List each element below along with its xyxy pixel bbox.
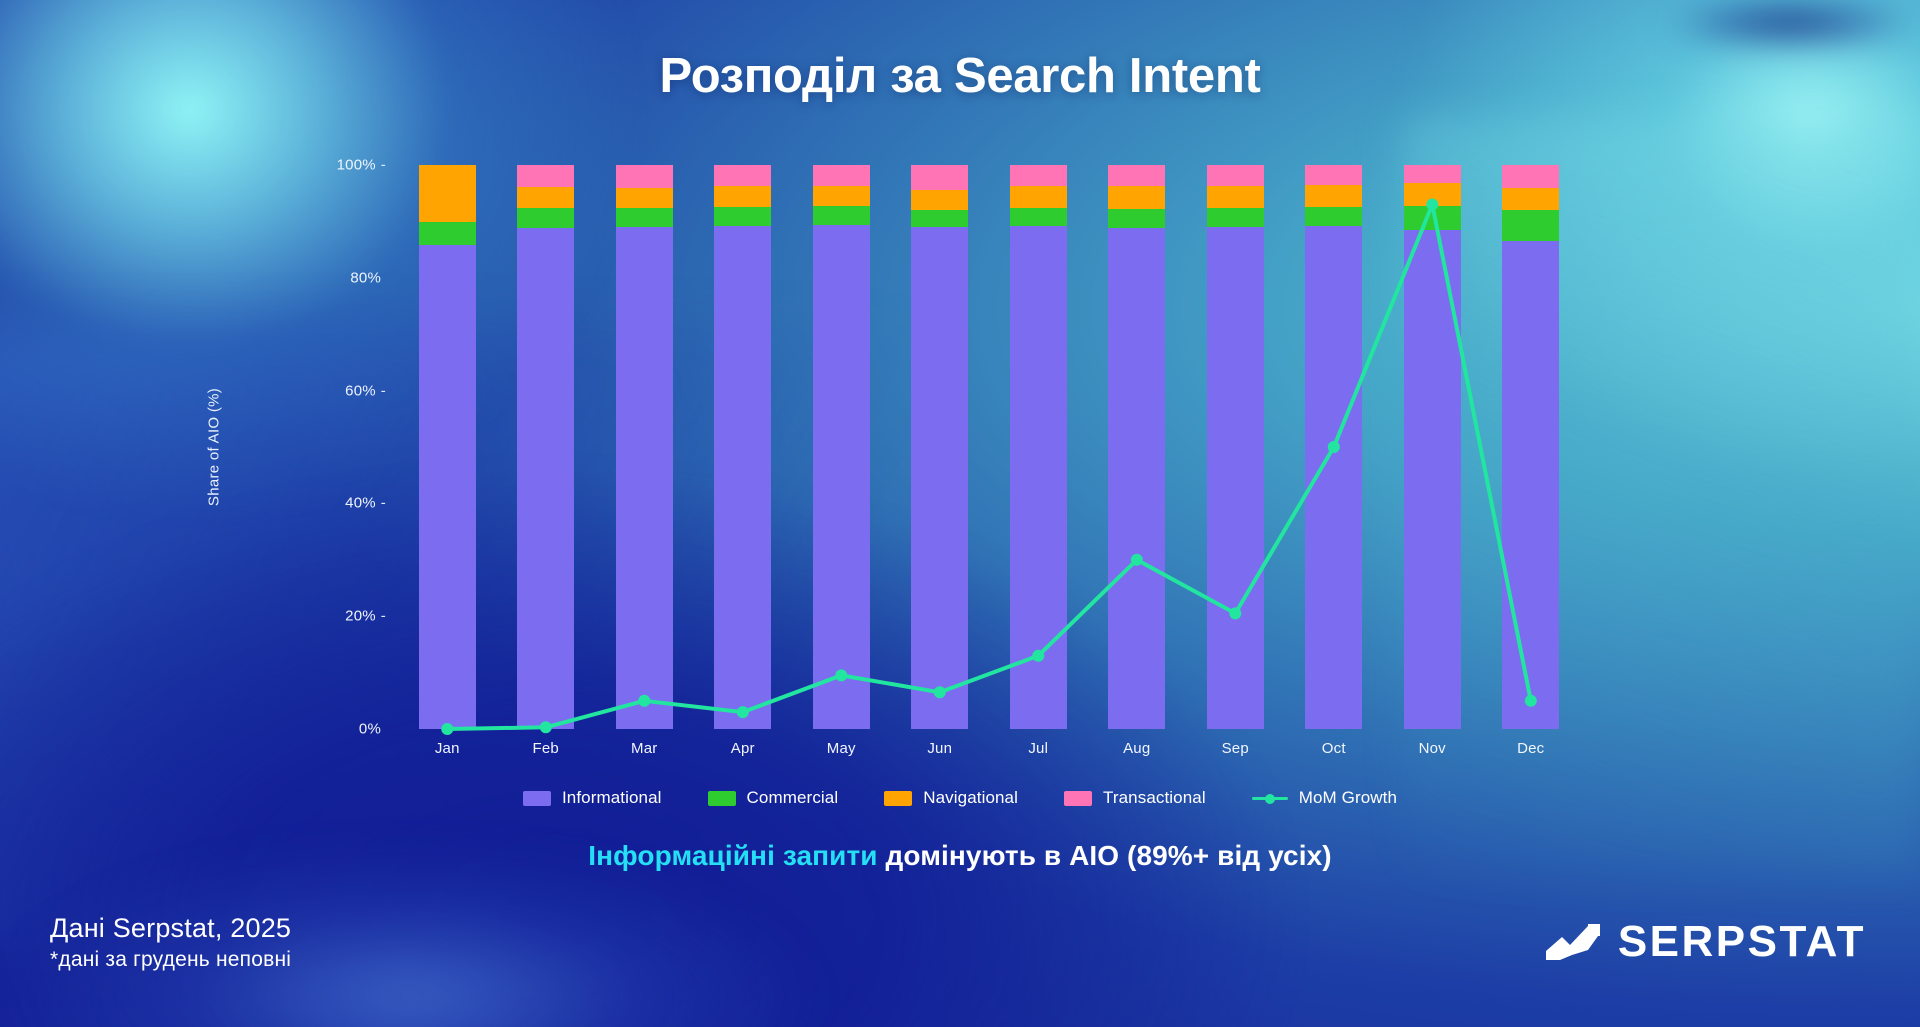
y-axis-tick: 40%- xyxy=(345,495,386,512)
legend-line-swatch xyxy=(1252,791,1288,806)
x-axis-tick: Nov xyxy=(1383,740,1482,757)
x-axis-tick: Aug xyxy=(1088,740,1187,757)
mom-growth-point[interactable] xyxy=(1328,441,1340,453)
y-axis-tick: 100%- xyxy=(337,157,386,174)
legend-label: MoM Growth xyxy=(1299,788,1397,808)
mom-growth-point[interactable] xyxy=(1525,695,1537,707)
y-axis-tick: 60%- xyxy=(345,382,386,399)
x-axis-tick: Oct xyxy=(1285,740,1384,757)
y-axis-label: Share of AIO (%) xyxy=(206,388,223,506)
caption-highlight: Інформаційні запити xyxy=(588,840,877,871)
footer-source: Дані Serpstat, 2025 *дані за грудень неп… xyxy=(50,913,291,973)
caption-rest: домінують в AIO (89%+ від усіх) xyxy=(878,840,1332,871)
legend-item[interactable]: Commercial xyxy=(708,788,839,808)
chart-legend: InformationalCommercialNavigationalTrans… xyxy=(0,788,1920,808)
y-axis-tick: 80% xyxy=(350,269,386,286)
legend-color-swatch xyxy=(1064,791,1092,806)
legend-color-swatch xyxy=(884,791,912,806)
legend-label: Navigational xyxy=(923,788,1018,808)
y-axis-tick: 0% xyxy=(359,721,386,738)
x-axis-tick: Feb xyxy=(497,740,596,757)
x-axis-tick: Mar xyxy=(595,740,694,757)
mom-growth-polyline xyxy=(447,205,1531,730)
chart-caption: Інформаційні запити домінують в AIO (89%… xyxy=(0,840,1920,872)
mom-growth-point[interactable] xyxy=(1229,607,1241,619)
serpstat-mark-icon xyxy=(1542,920,1604,964)
mom-growth-point[interactable] xyxy=(1131,554,1143,566)
legend-label: Informational xyxy=(562,788,662,808)
legend-color-swatch xyxy=(523,791,551,806)
y-axis-ticks: 100%-80%60%-40%-20%-0% xyxy=(286,165,386,729)
x-axis-tick: Apr xyxy=(694,740,793,757)
footer-source-line1: Дані Serpstat, 2025 xyxy=(50,913,291,945)
legend-label: Commercial xyxy=(747,788,839,808)
legend-item[interactable]: Navigational xyxy=(884,788,1018,808)
mom-growth-line-series xyxy=(398,165,1580,729)
x-axis-tick: Sep xyxy=(1186,740,1285,757)
x-axis-tick: May xyxy=(792,740,891,757)
x-axis-tick: Jul xyxy=(989,740,1088,757)
mom-growth-point[interactable] xyxy=(934,686,946,698)
x-axis-tick: Jun xyxy=(891,740,990,757)
legend-color-swatch xyxy=(708,791,736,806)
chart-title: Розподіл за Search Intent xyxy=(0,48,1920,104)
serpstat-wordmark: SERPSTAT xyxy=(1618,917,1866,967)
y-axis-tick: 20%- xyxy=(345,608,386,625)
x-axis-tick: Dec xyxy=(1482,740,1581,757)
mom-growth-point[interactable] xyxy=(1426,199,1438,211)
legend-label: Transactional xyxy=(1103,788,1206,808)
legend-item[interactable]: MoM Growth xyxy=(1252,788,1397,808)
serpstat-logo: SERPSTAT xyxy=(1542,917,1866,967)
mom-growth-point[interactable] xyxy=(638,695,650,707)
mom-growth-point[interactable] xyxy=(737,706,749,718)
mom-growth-point[interactable] xyxy=(441,723,453,735)
footer-source-line2: *дані за грудень неповні xyxy=(50,947,291,973)
legend-item[interactable]: Transactional xyxy=(1064,788,1206,808)
x-axis-tick: Jan xyxy=(398,740,497,757)
mom-growth-point[interactable] xyxy=(835,669,847,681)
legend-item[interactable]: Informational xyxy=(523,788,662,808)
mom-growth-point[interactable] xyxy=(540,721,552,733)
plot-area xyxy=(398,165,1580,729)
x-axis-ticks: JanFebMarAprMayJunJulAugSepOctNovDec xyxy=(398,740,1580,757)
mom-growth-point[interactable] xyxy=(1032,650,1044,662)
